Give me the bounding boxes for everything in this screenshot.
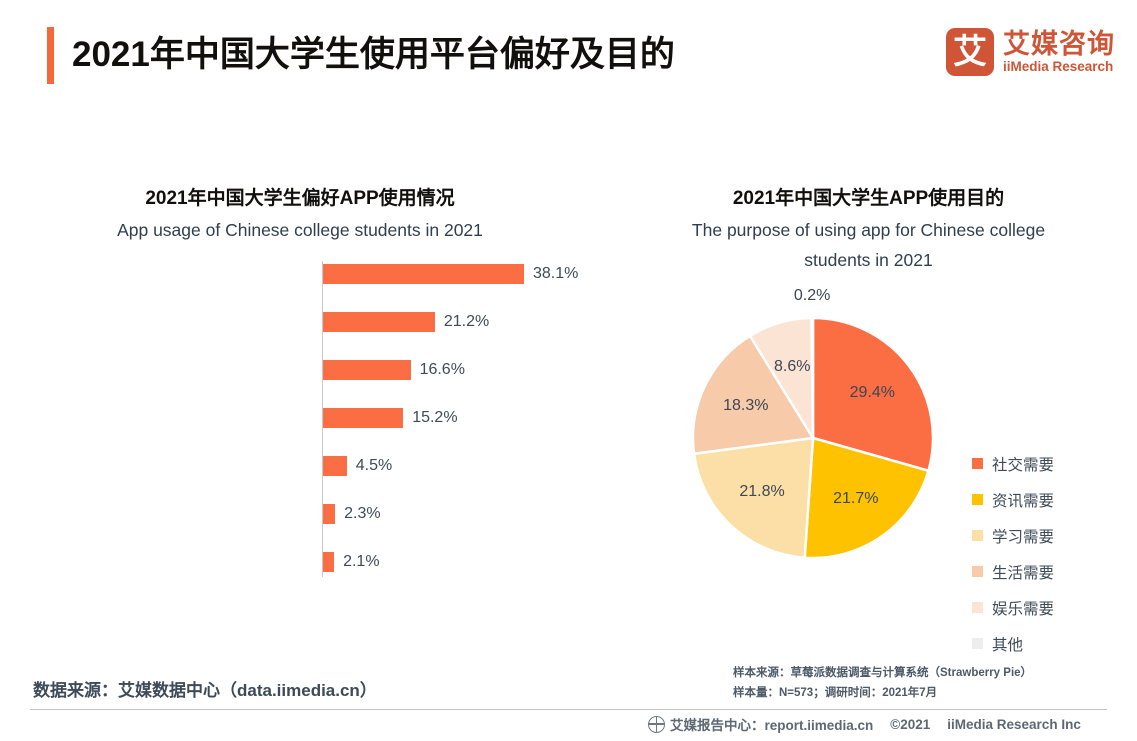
legend-label: 学习需要 bbox=[992, 525, 1054, 547]
pie-legend-item[interactable]: 社交需要 bbox=[972, 449, 1054, 478]
bar-fill bbox=[323, 360, 411, 380]
legend-color-swatch bbox=[972, 530, 983, 541]
bar-fill bbox=[323, 264, 524, 284]
pie-chart-title-cn: 2021年中国大学生APP使用目的 bbox=[600, 185, 1137, 212]
pie-slice-value-label: 0.2% bbox=[794, 287, 830, 305]
bar-fill bbox=[323, 552, 334, 572]
bar-value-label: 38.1% bbox=[533, 264, 578, 284]
bar-chart-panel: 2021年中国大学生偏好APP使用情况 App usage of Chinese… bbox=[0, 185, 600, 581]
bar-fill bbox=[323, 456, 347, 476]
logo-mark-glyph: 艾 bbox=[953, 35, 987, 69]
legend-label: 其他 bbox=[992, 633, 1023, 655]
pie-slice-value-label: 21.7% bbox=[833, 490, 878, 508]
page-header: 2021年中国大学生使用平台偏好及目的 艾 艾媒咨询 iiMedia Resea… bbox=[0, 0, 1137, 105]
legend-color-swatch bbox=[972, 638, 983, 649]
pie-slice[interactable] bbox=[811, 318, 813, 438]
bar-chart-row: 生活类（美团、饿了么等）2.3% bbox=[0, 501, 600, 527]
bar-chart-plot: 社交类（微信、微博等）38.1%购物类（淘宝、京东等）21.2%娱乐类（B站、网… bbox=[0, 261, 600, 581]
bar-track: 15.2% bbox=[323, 408, 458, 428]
footer-divider bbox=[30, 709, 1107, 710]
bar-track: 4.5% bbox=[323, 456, 392, 476]
pie-svg bbox=[692, 317, 934, 559]
logo-name-en: iiMedia Research bbox=[1003, 60, 1115, 74]
pie-legend-item[interactable]: 生活需要 bbox=[972, 557, 1054, 586]
pie-legend-item[interactable]: 资讯需要 bbox=[972, 485, 1054, 514]
bar-track: 38.1% bbox=[323, 264, 578, 284]
pie-graphic bbox=[692, 317, 934, 559]
bar-value-label: 2.3% bbox=[344, 504, 380, 524]
bar-chart-row: 购物类（淘宝、京东等）21.2% bbox=[0, 309, 600, 335]
legend-color-swatch bbox=[972, 602, 983, 613]
bar-value-label: 2.1% bbox=[343, 552, 379, 572]
legend-color-swatch bbox=[972, 566, 983, 577]
iimedia-logo: 艾 艾媒咨询 iiMedia Research bbox=[946, 28, 1115, 76]
pie-legend-item[interactable]: 娱乐需要 bbox=[972, 593, 1054, 622]
bar-fill bbox=[323, 504, 335, 524]
legend-color-swatch bbox=[972, 494, 983, 505]
pie-legend: 社交需要资讯需要学习需要生活需要娱乐需要其他 bbox=[972, 449, 1054, 665]
bar-value-label: 15.2% bbox=[412, 408, 457, 428]
globe-icon bbox=[648, 716, 665, 733]
legend-label: 生活需要 bbox=[992, 561, 1054, 583]
pie-slice-value-label: 8.6% bbox=[774, 358, 810, 376]
legend-color-swatch bbox=[972, 458, 983, 469]
bar-track: 21.2% bbox=[323, 312, 489, 332]
pie-legend-item[interactable]: 其他 bbox=[972, 629, 1054, 658]
bar-chart-row: 工具类（WPS、学习通等）2.1% bbox=[0, 549, 600, 575]
sample-size-line: 样本量：N=573；调研时间：2021年7月 bbox=[733, 683, 1032, 703]
pie-chart-plot: 29.4%21.7%21.8%18.3%8.6%0.2% 社交需要资讯需要学习需… bbox=[600, 289, 1137, 619]
page-title: 2021年中国大学生使用平台偏好及目的 bbox=[72, 30, 675, 80]
logo-mark-icon: 艾 bbox=[946, 28, 994, 76]
sample-source-line: 样本来源：草莓派数据调查与计算系统（Strawberry Pie） bbox=[733, 663, 1032, 683]
title-accent-bar bbox=[47, 27, 54, 84]
legend-label: 资讯需要 bbox=[992, 489, 1054, 511]
pie-legend-item[interactable]: 学习需要 bbox=[972, 521, 1054, 550]
bar-track: 2.1% bbox=[323, 552, 380, 572]
report-center-link[interactable]: 艾媒报告中心：report.iimedia.cn bbox=[670, 714, 873, 734]
company-name: iiMedia Research Inc bbox=[947, 717, 1081, 732]
bar-value-label: 4.5% bbox=[356, 456, 392, 476]
sample-info: 样本来源：草莓派数据调查与计算系统（Strawberry Pie） 样本量：N=… bbox=[733, 663, 1032, 703]
pie-slice-value-label: 29.4% bbox=[850, 384, 895, 402]
pie-slice-value-label: 21.8% bbox=[739, 483, 784, 501]
bar-value-label: 21.2% bbox=[444, 312, 489, 332]
bar-chart-row: 金融类（蚂蚁财富、天天基金等）4.5% bbox=[0, 453, 600, 479]
bar-track: 16.6% bbox=[323, 360, 465, 380]
bar-value-label: 16.6% bbox=[420, 360, 465, 380]
bar-chart-row: 娱乐类（B站、网易云等）16.6% bbox=[0, 357, 600, 383]
pie-slice-value-label: 18.3% bbox=[723, 397, 768, 415]
bar-chart-row: 社交类（微信、微博等）38.1% bbox=[0, 261, 600, 287]
logo-name-cn: 艾媒咨询 bbox=[1003, 31, 1115, 58]
bar-chart-title-en: App usage of Chinese college students in… bbox=[0, 215, 600, 245]
logo-text: 艾媒咨询 iiMedia Research bbox=[1003, 31, 1115, 74]
pie-chart-title-en: The purpose of using app for Chinese col… bbox=[659, 215, 1079, 275]
bar-fill bbox=[323, 408, 403, 428]
footer-bar: 艾媒报告中心：report.iimedia.cn ©2021 iiMedia R… bbox=[648, 714, 1081, 734]
legend-label: 娱乐需要 bbox=[992, 597, 1054, 619]
legend-label: 社交需要 bbox=[992, 453, 1054, 475]
bar-track: 2.3% bbox=[323, 504, 381, 524]
data-source-note: 数据来源：艾媒数据中心（data.iimedia.cn） bbox=[33, 676, 377, 701]
copyright-year: ©2021 bbox=[890, 717, 930, 732]
bar-chart-title-cn: 2021年中国大学生偏好APP使用情况 bbox=[0, 185, 600, 212]
bar-fill bbox=[323, 312, 435, 332]
pie-chart-panel: 2021年中国大学生APP使用目的 The purpose of using a… bbox=[600, 185, 1137, 619]
bar-chart-row: 新闻类（今日头条、腾讯新闻等）15.2% bbox=[0, 405, 600, 431]
